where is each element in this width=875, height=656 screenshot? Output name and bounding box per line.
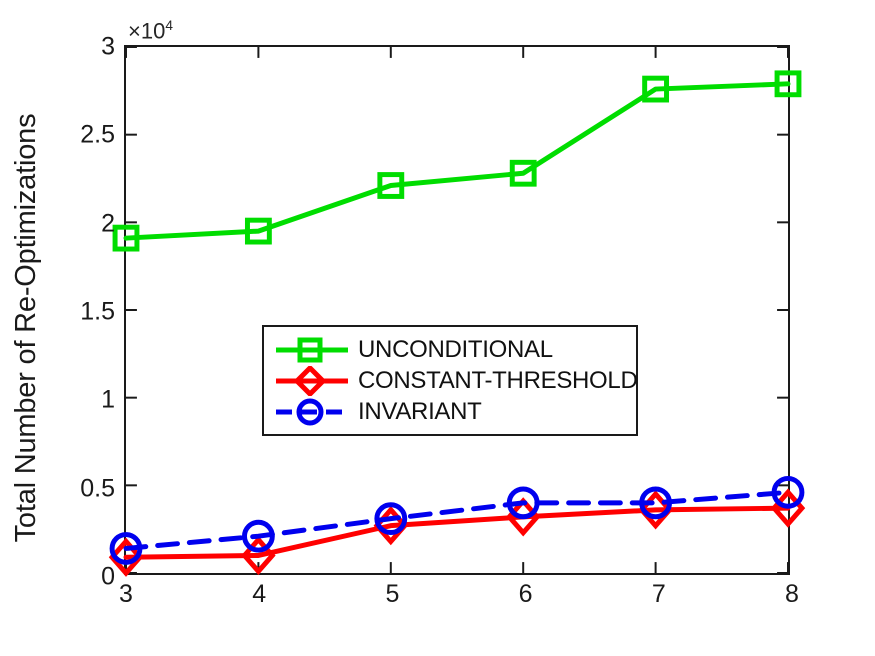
legend-item-unconditional: UNCONDITIONAL [264,334,636,365]
legend-swatch-invariant [274,397,350,427]
y-tick-label: 0 [101,563,115,592]
y-tick-label: 2.5 [80,121,115,150]
plot-canvas [126,47,788,573]
series-unconditional [115,73,799,249]
legend-label-unconditional: UNCONDITIONAL [358,336,553,364]
plot-area: 00.511.522.53 345678 [124,45,790,575]
legend-box: UNCONDITIONAL CONSTANT-THRESHOLD INVARIA… [262,325,638,436]
y-axis-label: Total Number of Re-Optimizations [0,0,52,656]
x-tick-label: 5 [385,580,399,609]
y-tick-label: 2 [101,209,115,238]
y-tick-label: 1 [101,386,115,415]
y-axis-multiplier-exponent: 4 [165,18,173,33]
tick-marks [126,47,788,573]
legend-swatch-unconditional [274,335,350,365]
x-tick-label: 8 [785,580,799,609]
legend-label-constant-threshold: CONSTANT-THRESHOLD [358,367,638,395]
y-axis-multiplier: ×104 [128,18,173,44]
x-tick-label: 4 [252,580,266,609]
y-tick-label: 1.5 [80,298,115,327]
legend-item-constant-threshold: CONSTANT-THRESHOLD [264,365,636,396]
y-tick-label: 3 [101,33,115,62]
legend-item-invariant: INVARIANT [264,396,636,427]
y-tick-label: 0.5 [80,474,115,503]
legend-swatch-constant-threshold [274,366,350,396]
x-tick-label: 7 [652,580,666,609]
legend-label-invariant: INVARIANT [358,398,482,426]
data-series-layer [112,73,802,573]
series-constant-threshold [112,492,802,573]
x-tick-label: 6 [519,580,533,609]
x-tick-label: 3 [119,580,133,609]
chart-figure: Total Number of Re-Optimizations ×104 00… [0,0,875,656]
y-axis-multiplier-base: ×10 [128,18,165,43]
